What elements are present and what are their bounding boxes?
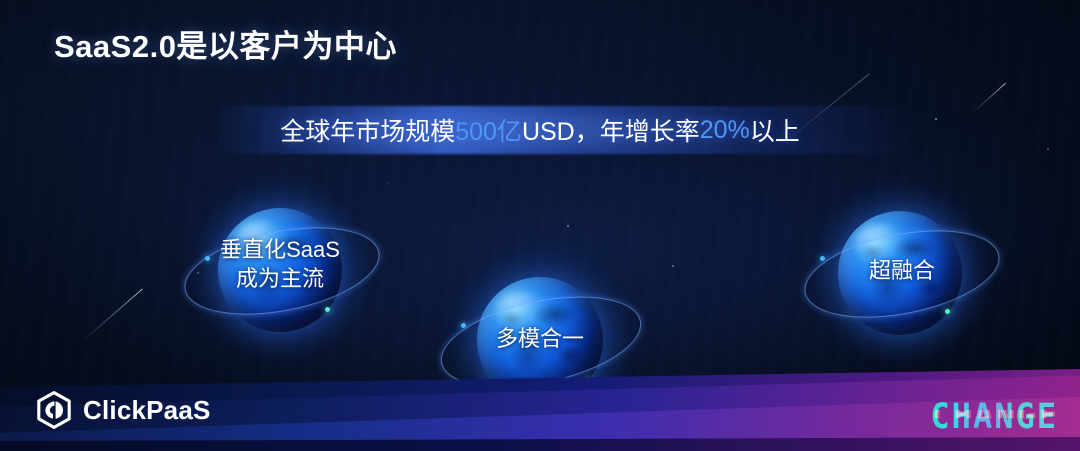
slide-canvas: SaaS2.0是以客户为中心 全球年市场规模 500亿USD，年增长率20%以上…: [0, 0, 1080, 451]
hexagon-swirl-icon: [36, 391, 72, 429]
orbit-node-dot: [205, 256, 210, 261]
subtitle-text: 全球年市场规模 500亿USD，年增长率20%以上: [0, 106, 1080, 154]
subtitle-part-1: 全球年市场规模: [280, 112, 455, 148]
star-dot: [388, 183, 389, 184]
orbit-node-dot: [820, 256, 825, 261]
page-title: SaaS2.0是以客户为中心: [54, 21, 397, 66]
subtitle-highlight-market-size: 500亿: [455, 112, 522, 148]
orbit-node-dot: [945, 309, 950, 314]
node-vertical-saas[interactable]: 垂直化SaaS 成为主流: [185, 175, 375, 365]
brand-logo[interactable]: ClickPaaS: [36, 391, 211, 429]
node-hyper-converged[interactable]: 超融合: [805, 178, 995, 368]
orbit-node-dot: [325, 307, 330, 312]
subtitle-banner: 全球年市场规模 500亿USD，年增长率20%以上: [0, 106, 1080, 154]
subtitle-part-2: USD，年增长率: [522, 112, 700, 148]
orbit-node-dot: [461, 323, 466, 328]
star-dot: [672, 265, 674, 267]
subtitle-part-3: 以上: [750, 112, 800, 148]
star-dot: [567, 225, 569, 227]
brand-logo-text: ClickPaaS: [83, 395, 211, 426]
campaign-wordmark: CHANGE: [930, 395, 1058, 436]
subtitle-highlight-growth-rate: 20%: [700, 116, 750, 145]
